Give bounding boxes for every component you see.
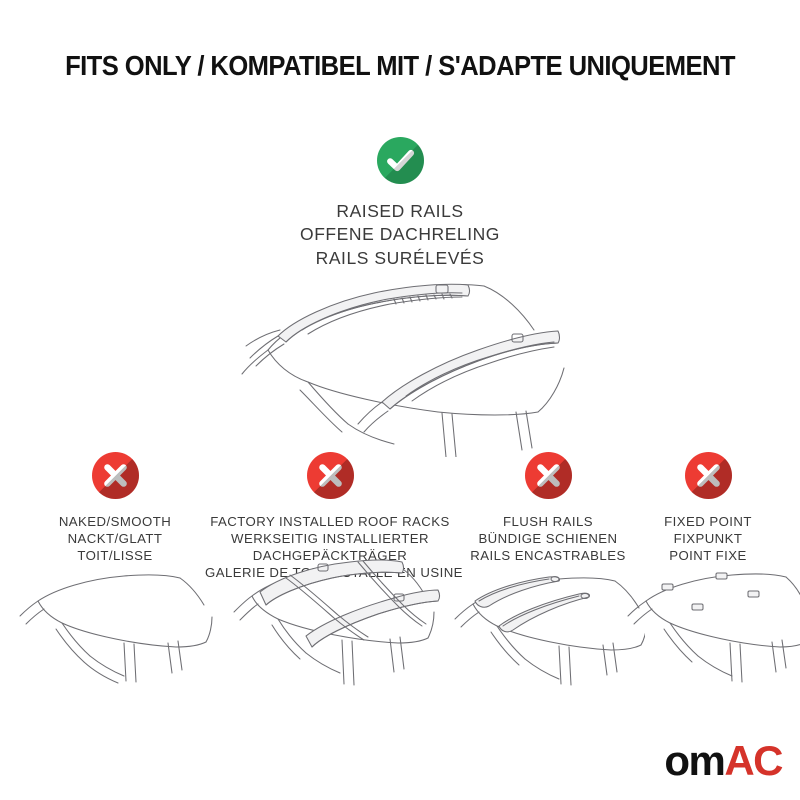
label-line-en: FIXED POINT — [633, 513, 783, 530]
label-line-en: FLUSH RAILS — [453, 513, 643, 530]
label-line-de: FIXPUNKT — [633, 530, 783, 547]
car-roof-raised-rails-illustration — [216, 272, 586, 457]
label-line-de: NACKT/GLATT — [15, 530, 215, 547]
compatible-item-label: RAISED RAILS OFFENE DACHRELING RAILS SUR… — [0, 200, 800, 270]
label-line-en: FACTORY INSTALLED ROOF RACKS — [205, 513, 455, 530]
page-title: FITS ONLY / KOMPATIBEL MIT / S'ADAPTE UN… — [28, 50, 772, 82]
badge-shadow — [307, 452, 354, 499]
car-roof-fixed-point-illustration — [620, 555, 800, 685]
incompatible-item-naked-smooth: NAKED/SMOOTH NACKT/GLATT TOIT/LISSE — [15, 452, 215, 564]
logo-text-om: om — [664, 737, 724, 784]
compatible-item-raised-rails: RAISED RAILS OFFENE DACHRELING RAILS SUR… — [0, 137, 800, 270]
car-roof-naked-illustration — [8, 555, 213, 685]
x-circle-icon — [307, 452, 354, 499]
x-circle-icon — [685, 452, 732, 499]
badge-shadow — [525, 452, 572, 499]
incompatible-item-flush-rails: FLUSH RAILS BÜNDIGE SCHIENEN RAILS ENCAS… — [453, 452, 643, 564]
label-line-en: NAKED/SMOOTH — [15, 513, 215, 530]
x-circle-icon — [525, 452, 572, 499]
omac-logo: omAC — [664, 740, 782, 782]
label-line-de: OFFENE DACHRELING — [0, 223, 800, 246]
badge-shadow — [685, 452, 732, 499]
x-circle-icon — [92, 452, 139, 499]
badge-shadow — [92, 452, 139, 499]
label-line-de: BÜNDIGE SCHIENEN — [453, 530, 643, 547]
logo-text-ac: AC — [724, 737, 782, 784]
incompatible-item-label: FLUSH RAILS BÜNDIGE SCHIENEN RAILS ENCAS… — [453, 513, 643, 564]
product-compatibility-infographic: FITS ONLY / KOMPATIBEL MIT / S'ADAPTE UN… — [0, 0, 800, 800]
incompatible-item-fixed-point: FIXED POINT FIXPUNKT POINT FIXE — [633, 452, 783, 564]
label-line-de-1: WERKSEITIG INSTALLIERTER — [205, 530, 455, 547]
car-roof-factory-rack-illustration — [222, 548, 447, 688]
label-line-fr: RAILS SURÉLEVÉS — [0, 247, 800, 270]
car-roof-flush-rails-illustration — [445, 558, 645, 688]
badge-shadow — [377, 137, 424, 184]
label-line-en: RAISED RAILS — [0, 200, 800, 223]
check-circle-icon — [377, 137, 424, 184]
